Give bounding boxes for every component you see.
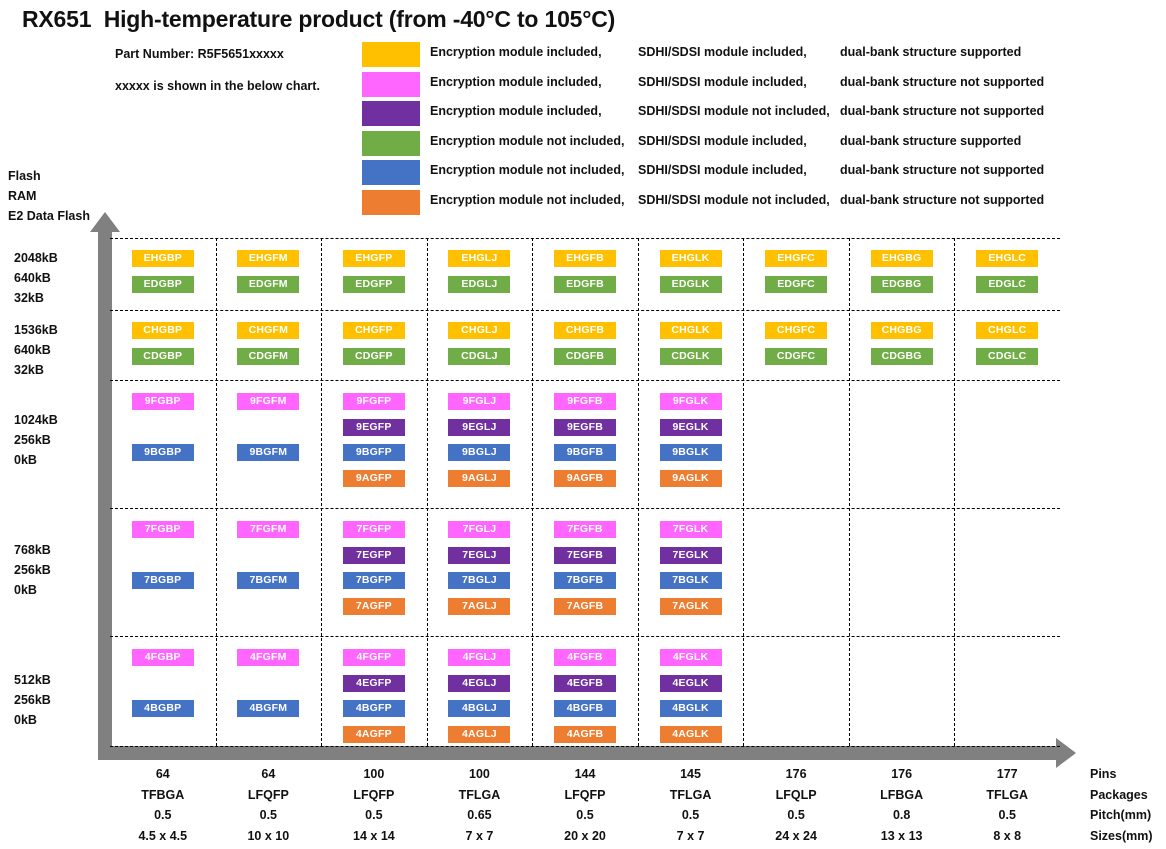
part-number-chip[interactable]: 7BGFP [343,572,405,589]
part-number-chip[interactable]: CDGLJ [448,348,510,365]
matrix-cell: CHGFCCDGFC [743,310,849,380]
chip-slot: CHGFP [321,322,427,348]
part-number-chip[interactable]: 4BGLJ [448,700,510,717]
part-number-chip[interactable]: 7EGLK [660,547,722,564]
y-label-ram: 256kB [14,430,100,450]
chip-slot: EHGBP [110,250,216,276]
chip-slot: 7AGFP [321,598,427,624]
y-axis-group-label: 1536kB640kB32kB [14,320,100,380]
part-number-chip[interactable]: 9BGFM [237,444,299,461]
y-label-flash: 1024kB [14,410,100,430]
matrix-cell: 7FGFB7EGFB7BGFB7AGFB [532,508,638,636]
part-number-chip[interactable]: 4BGBP [132,700,194,717]
part-number-chip[interactable]: 9BGLJ [448,444,510,461]
chip-slot: 9BGFM [216,444,322,470]
matrix-cell: 4FGBP4BGBP [110,636,216,746]
x-label-package: LFQFP [532,785,638,806]
part-number-chip[interactable]: EDGLC [976,276,1038,293]
part-number-chip[interactable]: 9EGFB [554,419,616,436]
part-number-chip[interactable]: CDGFP [343,348,405,365]
part-number-chip[interactable]: 9AGFB [554,470,616,487]
matrix-cell: EHGFBEDGFB [532,238,638,310]
part-number-chip[interactable]: 4AGFB [554,726,616,743]
part-number-note: Part Number: R5F5651xxxxx [115,47,284,61]
chip-slot: 7BGLK [638,572,744,598]
x-label-pitch: 0.5 [110,805,216,826]
part-number-chip[interactable]: 4EGFB [554,675,616,692]
y-label-e2: 0kB [14,710,100,730]
part-number-chip[interactable]: EDGFB [554,276,616,293]
chip-slot: 7BGFM [216,572,322,598]
chip-slot: CDGLJ [427,348,533,374]
x-label-pins: 144 [532,764,638,785]
part-number-chip[interactable]: EHGLK [660,250,722,267]
chip-slot-empty [216,675,322,701]
part-number-chip[interactable]: 4BGFM [237,700,299,717]
legend-dualbank-text: dual-bank structure not supported [840,104,1044,118]
part-number-chip[interactable]: 7BGFM [237,572,299,589]
chip-slot: CDGLK [638,348,744,374]
chip-slot: 9FGFP [321,393,427,419]
x-label-pitch: 0.5 [638,805,744,826]
axis-caption-e2-data-flash: E2 Data Flash [8,209,90,223]
chip-slot-empty [110,675,216,701]
part-number-chip[interactable]: 4FGLK [660,649,722,666]
chip-slot: EHGLK [638,250,744,276]
part-number-chip[interactable]: EHGLJ [448,250,510,267]
chip-slot-empty [216,726,322,752]
matrix-cell: 4FGLJ4EGLJ4BGLJ4AGLJ [427,636,533,746]
matrix-cell [849,636,955,746]
part-number-chip[interactable]: 7AGFB [554,598,616,615]
part-number-chip[interactable]: CHGLJ [448,322,510,339]
part-number-chip[interactable]: 7BGFB [554,572,616,589]
part-number-chip[interactable]: EDGFP [343,276,405,293]
legend-sdhi-text: SDHI/SDSI module not included, [638,104,830,118]
part-number-chip[interactable]: 9FGFB [554,393,616,410]
matrix-cell: EHGFPEDGFP [321,238,427,310]
part-number-chip[interactable]: CHGLC [976,322,1038,339]
chip-slot: CDGBP [110,348,216,374]
chip-slot: 4AGFB [532,726,638,752]
x-label-pins: 176 [849,764,955,785]
y-label-flash: 2048kB [14,248,100,268]
part-number-chip[interactable]: 7EGLJ [448,547,510,564]
legend-row: Encryption module not included,SDHI/SDSI… [362,160,1062,190]
legend-color-swatch [362,190,420,215]
chip-slot: 4AGFP [321,726,427,752]
chip-slot: CHGLK [638,322,744,348]
part-number-chip[interactable]: CHGFC [765,322,827,339]
chip-slot: 7FGLK [638,521,744,547]
x-label-pitch: 0.65 [426,805,532,826]
chip-slot: 4BGLJ [427,700,533,726]
chip-slot: 4FGLJ [427,649,533,675]
chip-slot: EDGFM [216,276,322,302]
matrix-cell: EHGFMEDGFM [216,238,322,310]
part-number-chip[interactable]: 7EGFP [343,547,405,564]
matrix-cell: EHGLKEDGLK [638,238,744,310]
chip-slot-empty [110,419,216,445]
chip-slot: 4FGFP [321,649,427,675]
chip-slot: 4FGFB [532,649,638,675]
chip-slot: 9BGLJ [427,444,533,470]
part-number-chip[interactable]: 4FGFB [554,649,616,666]
part-number-chip[interactable]: 9FGFP [343,393,405,410]
matrix-cell [849,508,955,636]
chip-slot: 9BGBP [110,444,216,470]
chip-slot: 9EGLK [638,419,744,445]
legend-dualbank-text: dual-bank structure supported [840,45,1021,59]
chip-slot: 4FGBP [110,649,216,675]
chip-slot: EDGFC [743,276,849,302]
matrix-cell: 9FGBP9BGBP [110,380,216,508]
matrix-cell: 4FGFP4EGFP4BGFP4AGFP [321,636,427,746]
x-label-size: 7 x 7 [426,826,532,847]
legend-dualbank-text: dual-bank structure supported [840,134,1021,148]
chip-slot: 9AGFP [321,470,427,496]
y-label-ram: 256kB [14,690,100,710]
part-number-chip[interactable]: 7FGFB [554,521,616,538]
chip-slot: 4FGFM [216,649,322,675]
chip-slot-empty [216,598,322,624]
x-label-size: 24 x 24 [743,826,849,847]
chip-slot: CHGLJ [427,322,533,348]
part-number-chip[interactable]: 9AGLK [660,470,722,487]
chip-slot: 7FGFP [321,521,427,547]
part-number-chip[interactable]: 7FGFP [343,521,405,538]
chip-slot: 9FGFM [216,393,322,419]
chip-slot: 4FGLK [638,649,744,675]
chip-slot: 7BGBP [110,572,216,598]
matrix-cell: 7FGFP7EGFP7BGFP7AGFP [321,508,427,636]
chip-slot: 9AGFB [532,470,638,496]
matrix-cell: 9FGFP9EGFP9BGFP9AGFP [321,380,427,508]
chip-slot-empty [216,419,322,445]
chip-slot: 4AGLJ [427,726,533,752]
chip-slot: 7EGLJ [427,547,533,573]
legend-encryption-text: Encryption module not included, [430,193,624,207]
part-number-chip[interactable]: 9FGLK [660,393,722,410]
part-number-chip[interactable]: 4EGLK [660,675,722,692]
legend-sdhi-text: SDHI/SDSI module included, [638,134,807,148]
part-number-chip[interactable]: 4BGFB [554,700,616,717]
axis-caption-ram: RAM [8,189,36,203]
legend-color-swatch [362,160,420,185]
x-label-pins: 64 [215,764,321,785]
part-number-chip[interactable]: CDGBP [132,348,194,365]
legend-encryption-text: Encryption module included, [430,45,602,59]
chart-grid: EHGBPEDGBPEHGFMEDGFMEHGFPEDGFPEHGLJEDGLJ… [110,238,1060,746]
part-number-chip[interactable]: EHGBP [132,250,194,267]
y-label-e2: 32kB [14,288,100,308]
legend-color-swatch [362,42,420,67]
legend-row: Encryption module included,SDHI/SDSI mod… [362,42,1062,72]
matrix-cell [954,380,1060,508]
part-number-chip[interactable]: CDGBG [871,348,933,365]
part-number-chip[interactable]: EHGFM [237,250,299,267]
matrix-cell [743,636,849,746]
chip-slot-empty [110,470,216,496]
part-number-chip[interactable]: 9AGFP [343,470,405,487]
part-number-chip[interactable]: 9BGLK [660,444,722,461]
part-number-chip[interactable]: 7FGLK [660,521,722,538]
x-label-package: LFQLP [743,785,849,806]
x-axis-column-label: 64TFBGA0.54.5 x 4.5 [110,764,216,846]
x-label-pins: 100 [426,764,532,785]
part-number-chip[interactable]: 4FGFP [343,649,405,666]
part-number-chip[interactable]: 4FGLJ [448,649,510,666]
chip-slot: EDGLK [638,276,744,302]
matrix-cell: CHGBPCDGBP [110,310,216,380]
part-number-chip[interactable]: EDGLJ [448,276,510,293]
part-number-chip[interactable]: 9EGLJ [448,419,510,436]
part-number-chip[interactable]: 9AGLJ [448,470,510,487]
chip-slot: 7BGFB [532,572,638,598]
legend-color-swatch [362,72,420,97]
matrix-cell: 7FGLJ7EGLJ7BGLJ7AGLJ [427,508,533,636]
x-axis-column-label: 100TFLGA0.657 x 7 [426,764,532,846]
part-number-chip[interactable]: CHGLK [660,322,722,339]
y-label-flash: 768kB [14,540,100,560]
chip-slot: EDGFP [321,276,427,302]
chip-slot: CHGFB [532,322,638,348]
matrix-cell: 9FGLJ9EGLJ9BGLJ9AGLJ [427,380,533,508]
part-number-chip[interactable]: CDGLC [976,348,1038,365]
part-number-chip[interactable]: EDGLK [660,276,722,293]
matrix-cell: 4FGLK4EGLK4BGLK4AGLK [638,636,744,746]
part-number-chip[interactable]: 7AGLJ [448,598,510,615]
part-number-chip[interactable]: CDGFB [554,348,616,365]
matrix-cell: 7FGBP7BGBP [110,508,216,636]
y-label-ram: 256kB [14,560,100,580]
chip-slot: 9BGLK [638,444,744,470]
y-label-e2: 32kB [14,360,100,380]
y-axis-group-label: 768kB256kB0kB [14,540,100,600]
part-number-chip[interactable]: 4BGLK [660,700,722,717]
part-number-chip[interactable]: EHGFP [343,250,405,267]
y-label-ram: 640kB [14,340,100,360]
part-number-chip[interactable]: 4AGLJ [448,726,510,743]
x-label-package: LFQFP [215,785,321,806]
chip-slot: EDGLC [954,276,1060,302]
chip-slot: CHGFC [743,322,849,348]
x-label-pitch: 0.5 [954,805,1060,826]
part-number-chip[interactable]: 9BGFP [343,444,405,461]
legend: Encryption module included,SDHI/SDSI mod… [362,42,1062,219]
x-axis-column-label: 144LFQFP0.520 x 20 [532,764,638,846]
chip-slot-empty [110,598,216,624]
part-number-chip[interactable]: EHGFB [554,250,616,267]
part-number-chip[interactable]: EHGBG [871,250,933,267]
x-label-pins: 64 [110,764,216,785]
chip-slot: 4EGFB [532,675,638,701]
x-label-package: TFBGA [110,785,216,806]
matrix-cell: 9FGFB9EGFB9BGFB9AGFB [532,380,638,508]
matrix-cell: EHGBPEDGBP [110,238,216,310]
part-number-chip[interactable]: 7BGLJ [448,572,510,589]
x-label-size: 13 x 13 [849,826,955,847]
matrix-cell [954,636,1060,746]
chip-slot: 9BGFP [321,444,427,470]
chip-slot-empty [216,470,322,496]
x-legend-pins: Pins [1090,764,1153,785]
part-number-chip[interactable]: CHGFM [237,322,299,339]
chip-slot: CHGFM [216,322,322,348]
part-number-chip[interactable]: 9BGBP [132,444,194,461]
part-number-chip[interactable]: 9FGLJ [448,393,510,410]
y-label-flash: 1536kB [14,320,100,340]
chip-slot: 9FGBP [110,393,216,419]
chip-slot: 9EGFP [321,419,427,445]
legend-encryption-text: Encryption module included, [430,75,602,89]
part-number-chip[interactable]: 9FGBP [132,393,194,410]
x-label-pitch: 0.5 [321,805,427,826]
matrix-cell: 7FGFM7BGFM [216,508,322,636]
chip-slot: 7BGFP [321,572,427,598]
y-label-flash: 512kB [14,670,100,690]
x-axis-column-label: 145TFLGA0.57 x 7 [638,764,744,846]
legend-dualbank-text: dual-bank structure not supported [840,75,1044,89]
matrix-cell: 9FGFM9BGFM [216,380,322,508]
chip-slot: 7EGLK [638,547,744,573]
chip-slot: 4BGLK [638,700,744,726]
page-title: RX651 High-temperature product (from -40… [22,6,615,33]
legend-sdhi-text: SDHI/SDSI module not included, [638,193,830,207]
chip-slot: CHGBP [110,322,216,348]
matrix-cell [743,380,849,508]
part-number-chip[interactable]: 7AGFP [343,598,405,615]
part-number-chip[interactable]: EDGBG [871,276,933,293]
chip-slot: EHGLC [954,250,1060,276]
x-axis-column-label: 176LFBGA0.813 x 13 [849,764,955,846]
legend-encryption-text: Encryption module not included, [430,134,624,148]
chip-slot: 9FGLK [638,393,744,419]
y-axis-group-label: 1024kB256kB0kB [14,410,100,470]
chip-slot: 4BGBP [110,700,216,726]
x-axis-column-label: 176LFQLP0.524 x 24 [743,764,849,846]
chip-slot: EHGFM [216,250,322,276]
part-number-chip[interactable]: EDGBP [132,276,194,293]
x-axis-legend: Pins Packages Pitch(mm) Sizes(mm) [1090,764,1153,846]
x-legend-pitch: Pitch(mm) [1090,805,1153,826]
chip-slot: 4EGLJ [427,675,533,701]
part-number-chip[interactable]: 4FGFM [237,649,299,666]
part-number-chip[interactable]: CHGBG [871,322,933,339]
part-number-chip[interactable]: 7AGLK [660,598,722,615]
part-number-chip[interactable]: 9EGLK [660,419,722,436]
y-axis-group-label: 2048kB640kB32kB [14,248,100,308]
chip-slot: 7AGFB [532,598,638,624]
chip-slot: 7FGLJ [427,521,533,547]
matrix-cell: 9FGLK9EGLK9BGLK9AGLK [638,380,744,508]
chip-slot: CDGLC [954,348,1060,374]
part-number-chip[interactable]: 7BGLK [660,572,722,589]
chip-slot: 9AGLK [638,470,744,496]
legend-dualbank-text: dual-bank structure not supported [840,163,1044,177]
part-number-chip[interactable]: CHGBP [132,322,194,339]
x-legend-packages: Packages [1090,785,1153,806]
matrix-cell: CHGFMCDGFM [216,310,322,380]
x-label-size: 14 x 14 [321,826,427,847]
part-number-chip[interactable]: 4EGFP [343,675,405,692]
part-number-chip[interactable]: 7FGBP [132,521,194,538]
part-number-chip[interactable]: CHGFB [554,322,616,339]
part-number-chip[interactable]: 4FGBP [132,649,194,666]
part-number-chip[interactable]: 9EGFP [343,419,405,436]
x-label-package: LFBGA [849,785,955,806]
chip-slot: 4AGLK [638,726,744,752]
chip-slot: EHGLJ [427,250,533,276]
x-label-pins: 177 [954,764,1060,785]
part-number-chip[interactable]: EDGFM [237,276,299,293]
part-number-chip[interactable]: 4BGFP [343,700,405,717]
part-number-chip[interactable]: CDGLK [660,348,722,365]
part-number-chip[interactable]: EHGLC [976,250,1038,267]
x-label-size: 4.5 x 4.5 [110,826,216,847]
part-number-chip[interactable]: CHGFP [343,322,405,339]
part-number-chip[interactable]: 7BGBP [132,572,194,589]
chart-page: RX651 High-temperature product (from -40… [0,0,1166,849]
chip-slot: EDGFB [532,276,638,302]
matrix-cell: CHGFPCDGFP [321,310,427,380]
matrix-cell: EHGBGEDGBG [849,238,955,310]
part-number-chip[interactable]: 9FGFM [237,393,299,410]
chip-slot-empty [110,547,216,573]
chip-slot: 4BGFP [321,700,427,726]
chip-slot: 4EGFP [321,675,427,701]
legend-encryption-text: Encryption module included, [430,104,602,118]
part-number-chip[interactable]: 7FGFM [237,521,299,538]
x-label-package: TFLGA [638,785,744,806]
matrix-cell [743,508,849,636]
x-legend-sizes: Sizes(mm) [1090,826,1153,847]
x-label-pitch: 0.5 [215,805,321,826]
chip-slot: CDGFB [532,348,638,374]
legend-row: Encryption module not included,SDHI/SDSI… [362,190,1062,220]
chip-slot: 9FGFB [532,393,638,419]
part-number-chip[interactable]: 9BGFB [554,444,616,461]
chip-slot: EHGFC [743,250,849,276]
part-number-chip[interactable]: 7FGLJ [448,521,510,538]
legend-row: Encryption module included,SDHI/SDSI mod… [362,101,1062,131]
chip-slot: 7FGFB [532,521,638,547]
chip-slot: 9FGLJ [427,393,533,419]
part-number-chip[interactable]: CDGFC [765,348,827,365]
x-label-pitch: 0.5 [743,805,849,826]
part-number-chip[interactable]: EHGFC [765,250,827,267]
matrix-cell: CHGLCCDGLC [954,310,1060,380]
part-number-chip[interactable]: EDGFC [765,276,827,293]
part-number-chip[interactable]: 4AGFP [343,726,405,743]
x-label-size: 10 x 10 [215,826,321,847]
axis-caption-flash: Flash [8,169,41,183]
x-label-pitch: 0.8 [849,805,955,826]
part-number-chip[interactable]: 4AGLK [660,726,722,743]
matrix-cell: EHGLCEDGLC [954,238,1060,310]
part-number-chip[interactable]: 7EGFB [554,547,616,564]
chip-slot-empty [110,726,216,752]
matrix-cell: EHGFCEDGFC [743,238,849,310]
part-number-chip[interactable]: 4EGLJ [448,675,510,692]
matrix-cell: 4FGFM4BGFM [216,636,322,746]
y-label-ram: 640kB [14,268,100,288]
y-axis-group-label: 512kB256kB0kB [14,670,100,730]
chip-slot: 4EGLK [638,675,744,701]
x-axis-column-label: 177TFLGA0.58 x 8 [954,764,1060,846]
part-number-chip[interactable]: CDGFM [237,348,299,365]
chip-slot: 7BGLJ [427,572,533,598]
